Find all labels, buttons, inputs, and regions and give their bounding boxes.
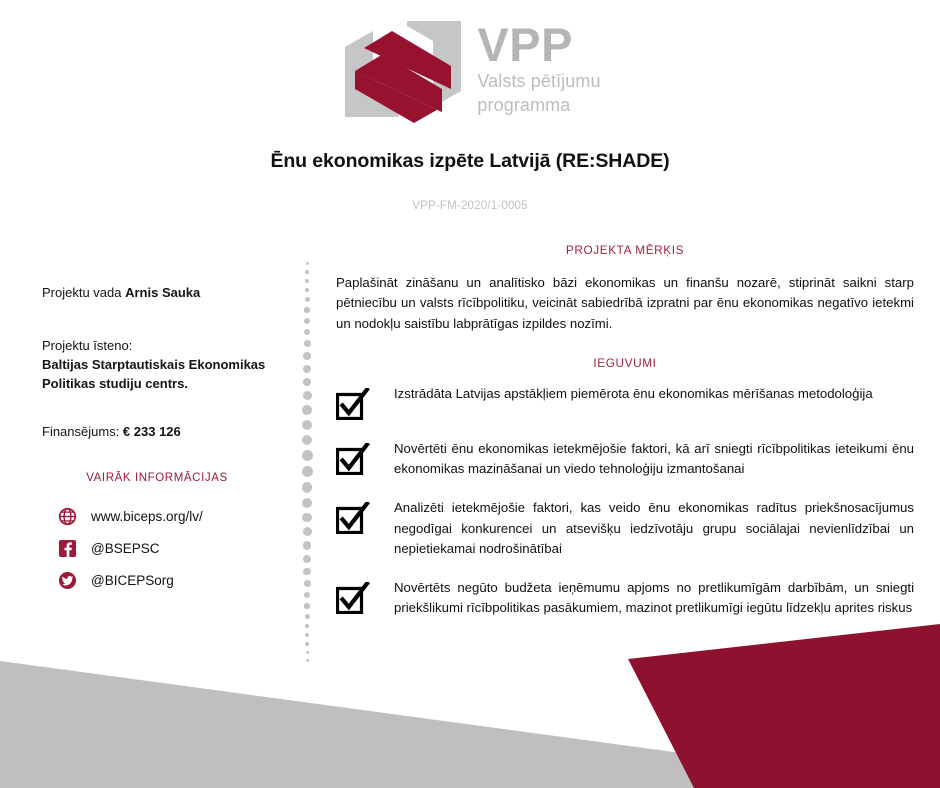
- divider-dot: [304, 329, 311, 336]
- divider-dot: [302, 435, 313, 446]
- logo-subtitle-line2: programma: [477, 95, 600, 116]
- dotted-divider: [299, 262, 315, 662]
- divider-dot: [302, 420, 312, 430]
- implementer-line-2: Politikas studiju centrs.: [42, 375, 292, 394]
- divider-dot: [303, 391, 312, 400]
- logo-subtitle-line1: Valsts pētījumu: [477, 71, 600, 92]
- divider-dot: [305, 270, 309, 274]
- benefits-heading: IEGUVUMI: [336, 356, 914, 370]
- divider-dot: [304, 318, 310, 324]
- funding-value: € 233 126: [123, 424, 181, 439]
- divider-dot: [305, 279, 309, 283]
- checked-box-icon: [336, 388, 370, 420]
- divider-dot: [302, 405, 312, 415]
- divider-dot: [305, 614, 310, 619]
- benefit-item: Novērtēts negūto budžeta ieņēmumu apjoms…: [336, 578, 914, 618]
- divider-dot: [303, 527, 312, 536]
- logo-block: VPP Valsts pētījumu programma: [0, 8, 940, 130]
- divider-dot: [303, 555, 311, 563]
- spacer: [42, 393, 292, 423]
- implementer-label: Projektu īsteno:: [42, 337, 292, 356]
- divider-dot: [304, 307, 310, 313]
- divider-dot: [303, 541, 312, 550]
- twitter-label[interactable]: @BICEPSorg: [91, 573, 174, 588]
- divider-dot: [303, 378, 312, 387]
- checked-box-icon: [336, 502, 370, 534]
- page-title: Ēnu ekonomikas izpēte Latvijā (RE:SHADE): [0, 150, 940, 173]
- contact-row-facebook[interactable]: @BSEPSC: [58, 534, 292, 562]
- divider-dot: [303, 352, 311, 360]
- divider-dot: [302, 466, 313, 477]
- contact-row-website[interactable]: www.biceps.org/lv/: [58, 502, 292, 530]
- project-lead-name: Arnis Sauka: [125, 285, 200, 300]
- benefit-item: Novērtēti ēnu ekonomikas ietekmējošie fa…: [336, 439, 914, 479]
- divider-dot: [303, 568, 311, 576]
- divider-dot: [302, 498, 312, 508]
- divider-dot: [306, 659, 309, 662]
- funding-line: Finansējums: € 233 126: [42, 423, 292, 442]
- divider-dot: [305, 624, 310, 629]
- gray-corner-shape: [0, 661, 940, 788]
- divider-dot: [302, 450, 313, 461]
- divider-dot: [305, 633, 309, 637]
- left-info-column: Projektu vada Arnis Sauka Projektu īsten…: [42, 284, 292, 598]
- divider-dot: [304, 340, 311, 347]
- globe-icon: [58, 507, 77, 526]
- goal-text: Paplašināt zināšanu un analītisko bāzi e…: [336, 273, 914, 334]
- right-content-column: PROJEKTA MĒRĶIS Paplašināt zināšanu un a…: [336, 243, 914, 637]
- benefit-text: Novērtēts negūto budžeta ieņēmumu apjoms…: [394, 578, 914, 618]
- poster-canvas: VPP Valsts pētījumu programma Ēnu ekonom…: [0, 0, 940, 788]
- project-code: VPP-FM-2020/1-0005: [0, 200, 940, 212]
- divider-dot: [305, 297, 310, 302]
- benefits-list: Izstrādāta Latvijas apstākļiem piemērota…: [336, 384, 914, 617]
- twitter-icon: [58, 571, 77, 590]
- benefit-item: Izstrādāta Latvijas apstākļiem piemērota…: [336, 384, 914, 420]
- spacer: [42, 303, 292, 337]
- divider-dot: [304, 580, 311, 587]
- benefit-text: Analizēti ietekmējošie faktori, kas veid…: [394, 498, 914, 558]
- crimson-corner-shape: [628, 624, 940, 788]
- divider-dot: [302, 513, 312, 523]
- contact-list: www.biceps.org/lv/ @BSEPSC: [58, 502, 292, 594]
- benefit-item: Analizēti ietekmējošie faktori, kas veid…: [336, 498, 914, 558]
- facebook-icon: [58, 539, 77, 558]
- divider-dot: [302, 482, 313, 493]
- divider-dot: [306, 262, 309, 265]
- logo-acronym: VPP: [477, 22, 600, 68]
- website-label[interactable]: www.biceps.org/lv/: [91, 509, 203, 524]
- divider-dot: [305, 642, 309, 646]
- divider-dot: [305, 288, 310, 293]
- checked-box-icon: [336, 582, 370, 614]
- vpp-logo-mark: [339, 13, 467, 125]
- goal-heading: PROJEKTA MĒRĶIS: [336, 243, 914, 257]
- project-lead-line: Projektu vada Arnis Sauka: [42, 284, 292, 303]
- benefit-text: Novērtēti ēnu ekonomikas ietekmējošie fa…: [394, 439, 914, 479]
- divider-dot: [306, 651, 309, 654]
- logo-wordmark: VPP Valsts pētījumu programma: [477, 22, 600, 117]
- divider-dot: [303, 365, 311, 373]
- checked-box-icon: [336, 443, 370, 475]
- project-lead-label: Projektu vada: [42, 285, 125, 300]
- more-info-heading: VAIRĀK INFORMĀCIJAS: [42, 472, 272, 484]
- contact-row-twitter[interactable]: @BICEPSorg: [58, 566, 292, 594]
- divider-dot: [304, 603, 310, 609]
- implementer-line-1: Baltijas Starptautiskais Ekonomikas: [42, 356, 292, 375]
- divider-dot: [304, 592, 310, 598]
- benefit-text: Izstrādāta Latvijas apstākļiem piemērota…: [394, 384, 914, 404]
- facebook-label[interactable]: @BSEPSC: [91, 541, 159, 556]
- funding-label: Finansējums:: [42, 424, 123, 439]
